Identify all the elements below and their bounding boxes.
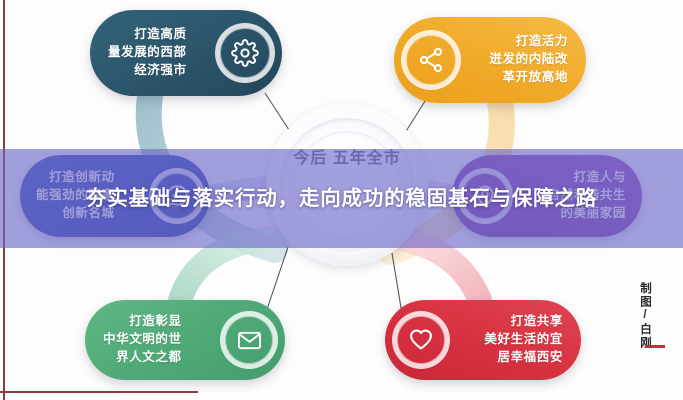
pill-top-right-label: 打造活力 迸发的内陆改 革开放高地	[489, 33, 568, 86]
pill-bottom-right-label: 打造共享 美好生活的宜 居幸福西安	[484, 313, 563, 366]
pill-top-right[interactable]: 打造活力 迸发的内陆改 革开放高地	[394, 17, 586, 103]
pill-bottom-left-label: 打造彰显 中华文明的世 界人文之都	[103, 313, 182, 366]
heart-icon	[397, 316, 445, 364]
infographic-poster: 今后 五年全市 打造高质 量发展的西部 经济强市 打造活力 迸发的内陆改 革开放…	[0, 0, 683, 400]
credit-text: 制图/白刚	[639, 282, 651, 350]
share-nodes-icon	[406, 35, 456, 85]
headline-text: 夯实基础与落实行动，走向成功的稳固基石与保障之路	[42, 184, 642, 214]
headline-banner: 夯实基础与落实行动，走向成功的稳固基石与保障之路	[0, 149, 683, 248]
frame-rule-bottom	[0, 391, 198, 393]
pill-top-left-label: 打造高质 量发展的西部 经济强市	[108, 26, 187, 79]
pill-top-left[interactable]: 打造高质 量发展的西部 经济强市	[90, 10, 282, 96]
gear-icon	[220, 28, 270, 78]
pill-bottom-left[interactable]: 打造彰显 中华文明的世 界人文之都	[85, 300, 285, 380]
envelope-icon	[225, 316, 273, 364]
frame-rule-bottom-right	[645, 345, 665, 348]
pill-bottom-right[interactable]: 打造共享 美好生活的宜 居幸福西安	[385, 300, 581, 380]
